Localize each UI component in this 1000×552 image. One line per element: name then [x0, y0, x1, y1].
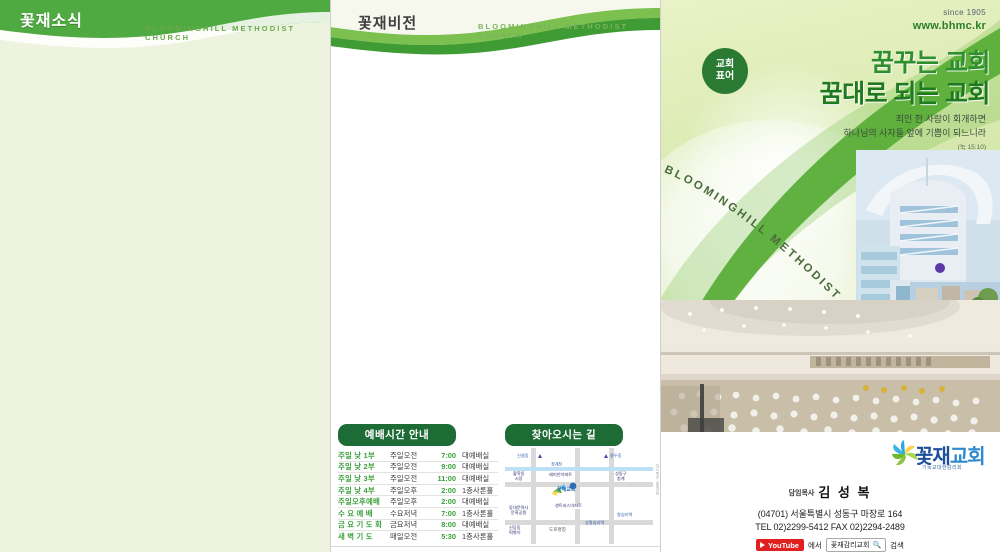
verse-line-1: 죄인 한 사람이 회개하면	[844, 112, 986, 126]
youtube-keyword-box[interactable]: 꽃재감리교회 🔍	[826, 538, 886, 552]
brochure-sheet: 꽃재소식 BLOOMINGHILL METHODIST CHURCH 꽃재비전 …	[0, 0, 1000, 552]
service-name: 주일 낮 1부	[338, 450, 390, 461]
service-name: 금 요 기 도 회	[338, 519, 390, 530]
news-panel-subtitle: BLOOMINGHILL METHODIST CHURCH	[145, 24, 330, 42]
service-place: 1층사론홀	[462, 508, 498, 519]
map-road-horizontal	[505, 520, 653, 525]
map-place-label: 센트라스아파트	[555, 504, 582, 509]
table-row: 수 요 예 배 수요저녁 7:00 1층사론홀	[338, 508, 498, 520]
map-place-label: 황학동시장	[513, 472, 525, 482]
slogan-badge: 교회 표어	[702, 48, 748, 94]
slogan-badge-line1: 교회	[716, 59, 734, 72]
service-times-table: 주일 낮 1부 주일오전 7:00 대예배실 주일 낮 2부 주일오전 9:00…	[338, 450, 498, 542]
service-place: 대예배실	[462, 519, 498, 530]
map-station-marker-icon	[604, 454, 608, 458]
table-row: 금 요 기 도 회 금요저녁 8:00 대예배실	[338, 520, 498, 532]
service-time: 7:00	[430, 509, 462, 518]
map-station-label: 신설동	[517, 453, 529, 459]
sanctuary-congregation-photo	[660, 300, 1000, 435]
youtube-button[interactable]: YouTube	[756, 539, 804, 551]
vision-panel-subtitle: BLOOMINGHILL METHODIST CHURCH	[478, 22, 660, 40]
church-logo-tagline: 기독교대한감리회	[922, 464, 962, 471]
map-place-label: 래미안아파트	[549, 473, 572, 478]
panel-news: 꽃재소식 BLOOMINGHILL METHODIST CHURCH	[0, 0, 330, 552]
service-when: 매일오전	[390, 531, 430, 542]
service-time: 2:00	[430, 486, 462, 495]
map-church-label: 꽃재교회	[557, 486, 575, 493]
service-name: 수 요 예 배	[338, 508, 390, 519]
youtube-keyword: 꽃재감리교회	[831, 540, 870, 550]
pastor-role: 담임목사	[789, 490, 815, 497]
church-tel-fax: TEL 02)2299-5412 FAX 02)2294-2489	[660, 522, 1000, 532]
panel-divider	[660, 0, 661, 552]
map-road-vertical	[531, 448, 536, 544]
panel-vision: 꽃재비전 BLOOMINGHILL METHODIST CHURCH 예배시간 …	[330, 0, 660, 552]
service-name: 주일 낮 4부	[338, 485, 390, 496]
location-map[interactable]: 청계천 신설동 용두동 황학동시장 래미안아파트 성동구청계 센트라스아파트 동…	[505, 448, 653, 544]
slogan-line-2: 꿈대로 되는 교회	[770, 79, 990, 110]
map-place-label: 성동구청계	[615, 472, 627, 482]
church-address: (04701) 서울특별시 성동구 마장로 164	[660, 507, 1000, 520]
map-station-marker-icon	[538, 454, 542, 458]
service-when: 주일오전	[390, 450, 430, 461]
service-times-heading: 예배시간 안내	[338, 424, 456, 446]
slogan-line-1: 꿈꾸는 교회	[770, 48, 990, 79]
service-place: 1층사론홀	[462, 531, 498, 542]
service-place: 대예배실	[462, 461, 498, 472]
pastor-line: 담임목사김 성 복	[660, 482, 1000, 501]
service-name: 새 벽 기 도	[338, 531, 390, 542]
service-when: 주일오후	[390, 485, 430, 496]
map-place-label: 신당동떡볶이	[509, 526, 521, 536]
youtube-action: 검색	[890, 540, 904, 551]
cover-verse: 죄인 한 사람이 회개하면 하나님의 사자들 앞에 기쁨이 되느니라 (눅 15…	[844, 112, 986, 153]
map-road-label: 도로명칭	[549, 527, 566, 533]
map-stream	[505, 467, 653, 471]
service-place: 1층사론홀	[462, 485, 498, 496]
verse-line-2: 하나님의 사자들 앞에 기쁨이 되느니라	[844, 126, 986, 140]
service-time: 11:00	[430, 474, 462, 483]
since-label: since 1905	[943, 8, 986, 17]
service-time: 2:00	[430, 497, 462, 506]
table-row: 새 벽 기 도 매일오전 5:30 1층사론홀	[338, 531, 498, 542]
panel-divider	[330, 0, 331, 552]
service-when: 주일오전	[390, 473, 430, 484]
map-place-label: 동대문역사문화공원	[509, 506, 528, 516]
slogan-badge-line2: 표어	[716, 71, 734, 84]
service-when: 주일오전	[390, 461, 430, 472]
news-panel-title: 꽃재소식	[20, 7, 83, 31]
website-label[interactable]: www.bhmc.kr	[913, 20, 986, 32]
youtube-connector: 에서	[808, 540, 822, 551]
service-when: 금요저녁	[390, 519, 430, 530]
table-row: 주일 낮 3부 주일오전 11:00 대예배실	[338, 473, 498, 485]
table-row: 주일 낮 1부 주일오전 7:00 대예배실	[338, 450, 498, 462]
map-stream-label: 청계천	[551, 462, 562, 468]
play-icon	[760, 542, 765, 548]
youtube-search-hint[interactable]: YouTube 에서 꽃재감리교회 🔍 검색	[660, 538, 1000, 552]
vision-bottom-divider	[330, 546, 660, 547]
map-station-label: 왕십리역	[617, 512, 632, 518]
service-time: 8:00	[430, 520, 462, 529]
service-place: 대예배실	[462, 450, 498, 461]
directions-heading: 찾아오시는 길	[505, 424, 623, 446]
service-when: 수요저녁	[390, 508, 430, 519]
service-name: 주일 낮 3부	[338, 473, 390, 484]
service-place: 대예배실	[462, 496, 498, 507]
news-content-area	[0, 62, 330, 552]
table-row: 주일 낮 4부 주일오후 2:00 1층사론홀	[338, 485, 498, 497]
youtube-brand: YouTube	[768, 541, 799, 550]
vision-panel-title: 꽃재비전	[358, 12, 417, 33]
service-name: 주일 낮 2부	[338, 461, 390, 472]
service-time: 7:00	[430, 451, 462, 460]
map-station-label: 상왕십리역	[585, 520, 604, 526]
church-logo: 꽃재교회 기독교대한감리회	[660, 436, 1000, 478]
search-icon: 🔍	[872, 541, 881, 549]
contact-block: 꽃재교회 기독교대한감리회 담임목사김 성 복 (04701) 서울특별시 성동…	[660, 432, 1000, 552]
service-time: 5:30	[430, 532, 462, 541]
service-when: 주일오후	[390, 496, 430, 507]
map-road-vertical	[609, 448, 614, 544]
table-row: 주일오후예배 주일오후 2:00 대예배실	[338, 496, 498, 508]
service-times-heading-label: 예배시간 안내	[338, 424, 456, 446]
service-name: 주일오후예배	[338, 496, 390, 507]
service-place: 대예배실	[462, 473, 498, 484]
map-station-label: 용두동	[610, 453, 622, 459]
table-row: 주일 낮 2부 주일오전 9:00 대예배실	[338, 462, 498, 474]
service-time: 9:00	[430, 462, 462, 471]
pastor-name: 김 성 복	[818, 485, 871, 500]
directions-heading-label: 찾아오시는 길	[505, 424, 623, 446]
panel-cover: since 1905 www.bhmc.kr 교회 표어 꿈꾸는 교회 꿈대로 …	[660, 0, 1000, 552]
cover-slogan: 꿈꾸는 교회 꿈대로 되는 교회	[770, 48, 990, 109]
curved-brand-text-label: BLOOMINGHILL METHODIST CHURCH	[660, 160, 855, 310]
